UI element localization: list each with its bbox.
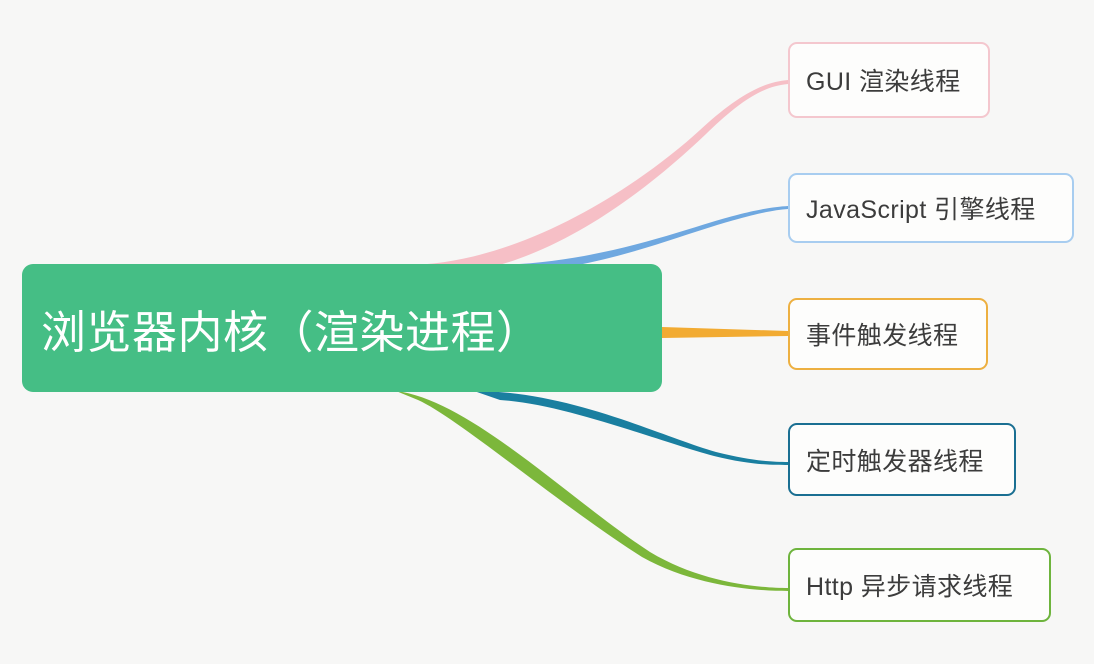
connector-javascript-engine-thread [489, 206, 788, 272]
mindmap-canvas: 浏览器内核（渲染进程） GUI 渲染线程 JavaScript 引擎线程 事件触… [0, 0, 1094, 664]
node-label-gui-render-thread: GUI 渲染线程 [806, 62, 961, 98]
connector-gui-render-thread [405, 80, 788, 276]
node-event-trigger-thread[interactable]: 事件触发线程 [788, 298, 988, 370]
node-label-timer-trigger-thread: 定时触发器线程 [806, 442, 984, 478]
connector-event-trigger-thread [662, 327, 788, 338]
node-timer-trigger-thread[interactable]: 定时触发器线程 [788, 423, 1016, 496]
node-label-event-trigger-thread: 事件触发线程 [806, 316, 958, 352]
node-http-async-thread[interactable]: Http 异步请求线程 [788, 548, 1051, 622]
node-label-javascript-engine-thread: JavaScript 引擎线程 [806, 190, 1036, 226]
node-gui-render-thread[interactable]: GUI 渲染线程 [788, 42, 990, 118]
root-node-label: 浏览器内核（渲染进程） [41, 296, 542, 361]
root-node[interactable]: 浏览器内核（渲染进程） [22, 264, 662, 392]
node-javascript-engine-thread[interactable]: JavaScript 引擎线程 [788, 173, 1074, 243]
connector-timer-trigger-thread [474, 391, 788, 465]
connector-http-async-thread [396, 391, 788, 591]
node-label-http-async-thread: Http 异步请求线程 [806, 567, 1013, 603]
